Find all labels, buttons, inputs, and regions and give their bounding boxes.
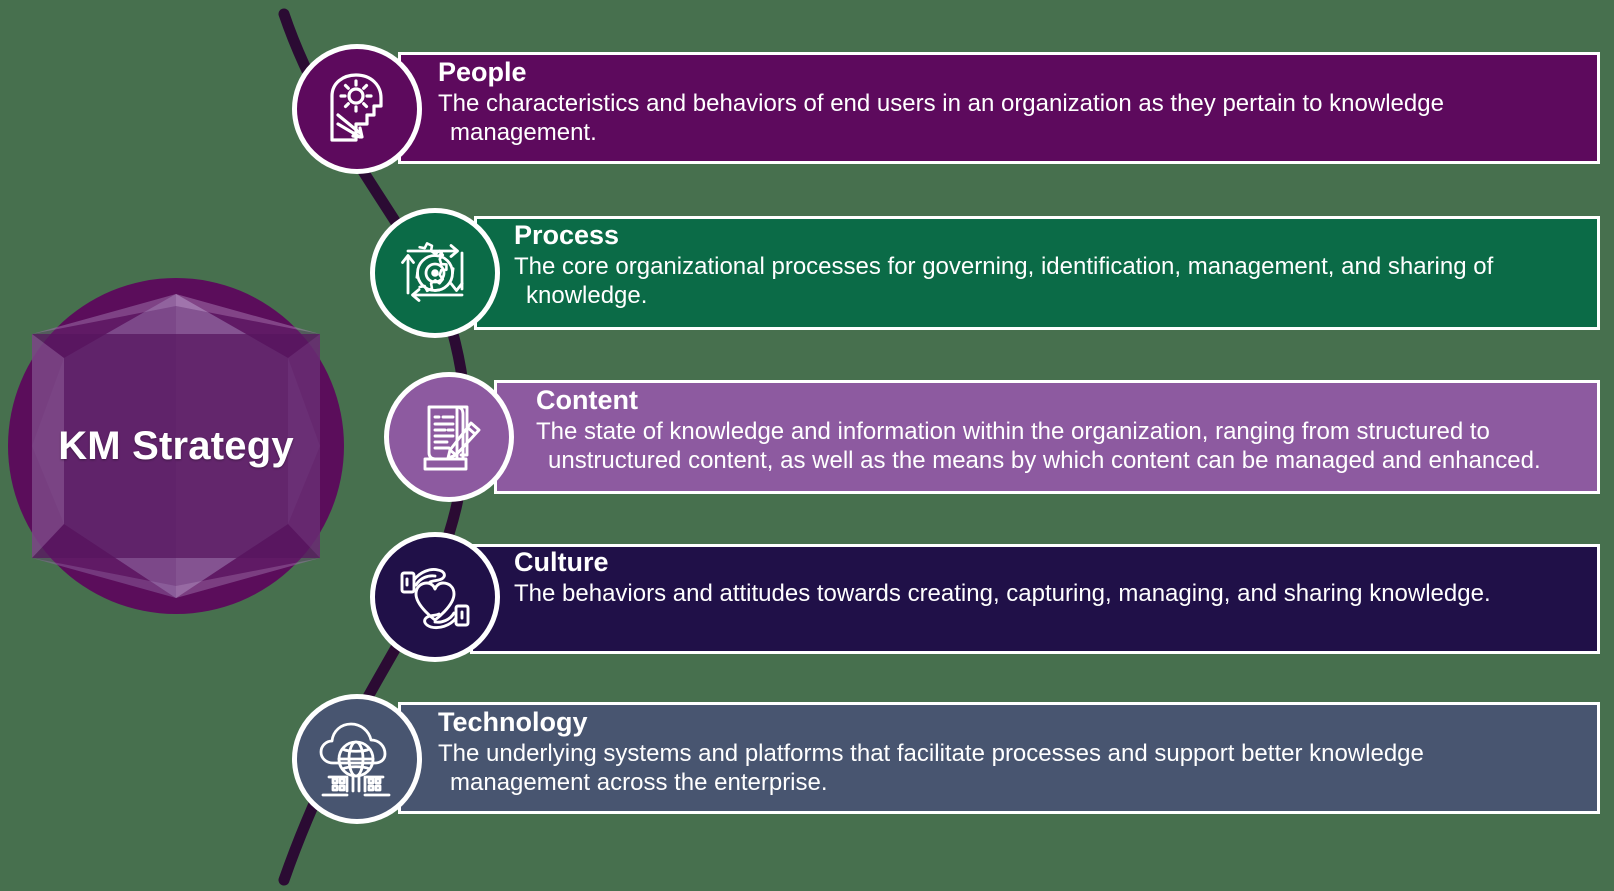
node-circle-technology[interactable] — [292, 694, 422, 824]
row-desc-content: The state of knowledge and information w… — [536, 417, 1564, 476]
row-title-people: People — [438, 58, 1548, 87]
km-strategy-label: KM Strategy — [6, 276, 346, 616]
hands-holding-heart-icon — [394, 556, 476, 638]
node-circle-process[interactable] — [370, 208, 500, 338]
row-text-content: Content The state of knowledge and infor… — [536, 386, 1564, 476]
head-with-idea-sun-icon — [318, 70, 396, 148]
cloud-globe-servers-icon — [313, 717, 401, 801]
row-text-culture: Culture The behaviors and attitudes towa… — [514, 548, 1554, 608]
km-strategy-hub: KM Strategy — [6, 276, 346, 616]
row-desc-technology: The underlying systems and platforms tha… — [438, 739, 1544, 798]
km-strategy-infographic: People The characteristics and behaviors… — [0, 0, 1614, 891]
node-circle-culture[interactable] — [370, 532, 500, 662]
row-text-people: People The characteristics and behaviors… — [438, 58, 1548, 148]
row-title-process: Process — [514, 221, 1544, 250]
row-text-process: Process The core organizational processe… — [514, 221, 1544, 311]
row-desc-culture: The behaviors and attitudes towards crea… — [514, 579, 1554, 609]
node-circle-content[interactable] — [384, 372, 514, 502]
row-text-technology: Technology The underlying systems and pl… — [438, 708, 1544, 798]
document-pencil-icon — [409, 397, 489, 477]
row-desc-people: The characteristics and behaviors of end… — [438, 89, 1548, 148]
row-desc-process: The core organizational processes for go… — [514, 252, 1544, 311]
gear-cycle-icon — [393, 231, 477, 315]
node-circle-people[interactable] — [292, 44, 422, 174]
row-title-culture: Culture — [514, 548, 1554, 577]
row-title-content: Content — [536, 386, 1564, 415]
row-title-technology: Technology — [438, 708, 1544, 737]
